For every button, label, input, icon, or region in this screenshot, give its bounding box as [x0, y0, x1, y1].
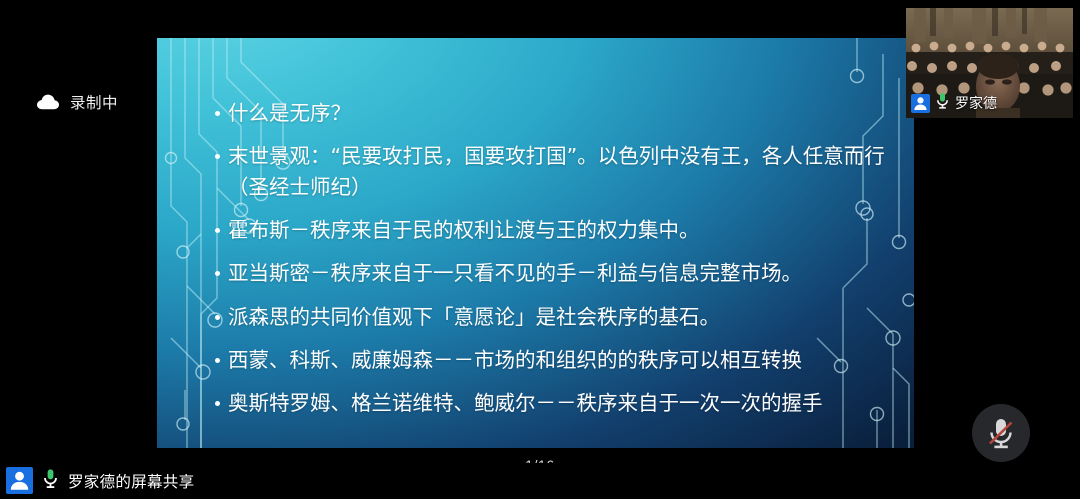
cloud-icon	[36, 93, 60, 111]
slide-bullet: 亚当斯密－秩序来自于一只看不见的手－利益与信息完整市场。	[215, 258, 886, 288]
bullet-marker-icon	[215, 358, 220, 363]
slide-bullet: 奥斯特罗姆、格兰诺维特、鲍威尔－－秩序来自于一次一次的握手	[215, 388, 886, 418]
meeting-screen-share-window: 录制中	[0, 0, 1080, 498]
person-icon	[911, 94, 930, 113]
recording-label: 录制中	[70, 91, 118, 113]
slide-bullet-list: 什么是无序？ 末世景观：“民要攻打民，国要攻打国”。以色列中没有王，各人任意而行…	[215, 98, 886, 432]
screen-share-status-bar: 罗家德的屏幕共享	[0, 463, 1080, 498]
slide-bullet: 西蒙、科斯、威廉姆森－－市场的和组织的的秩序可以相互转换	[215, 345, 886, 375]
bullet-marker-icon	[215, 154, 220, 159]
slide-bullet: 霍布斯－秩序来自于民的权利让渡与王的权力集中。	[215, 215, 886, 245]
slide-bullet-text: 霍布斯－秩序来自于民的权利让渡与王的权力集中。	[228, 215, 886, 245]
bullet-marker-icon	[215, 111, 220, 116]
slide-bullet: 末世景观：“民要攻打民，国要攻打国”。以色列中没有王，各人任意而行（圣经士师纪）	[215, 141, 886, 202]
slide-bullet-text: 末世景观：“民要攻打民，国要攻打国”。以色列中没有王，各人任意而行（圣经士师纪）	[228, 141, 886, 202]
person-icon	[6, 467, 33, 494]
screen-share-label: 罗家德的屏幕共享	[68, 470, 194, 492]
slide-bullet-text: 奥斯特罗姆、格兰诺维特、鲍威尔－－秩序来自于一次一次的握手	[228, 388, 886, 418]
shared-slide[interactable]: 什么是无序？ 末世景观：“民要攻打民，国要攻打国”。以色列中没有王，各人任意而行…	[157, 38, 914, 448]
recording-indicator: 录制中	[36, 91, 118, 113]
participant-video-tile[interactable]: 罗家德	[906, 8, 1073, 118]
bullet-marker-icon	[215, 315, 220, 320]
slide-bullet-text: 西蒙、科斯、威廉姆森－－市场的和组织的的秩序可以相互转换	[228, 345, 886, 375]
bullet-marker-icon	[215, 228, 220, 233]
microphone-muted-icon[interactable]	[972, 404, 1030, 462]
participant-badge: 罗家德	[911, 92, 997, 114]
microphone-icon	[42, 468, 59, 494]
bullet-marker-icon	[215, 271, 220, 276]
microphone-icon	[935, 92, 950, 114]
slide-bullet-text: 派森思的共同价值观下「意愿论」是社会秩序的基石。	[228, 302, 886, 332]
slide-bullet: 什么是无序？	[215, 98, 886, 128]
slide-bullet: 派森思的共同价值观下「意愿论」是社会秩序的基石。	[215, 302, 886, 332]
bullet-marker-icon	[215, 401, 220, 406]
slide-bullet-text: 什么是无序？	[228, 98, 886, 128]
slide-bullet-text: 亚当斯密－秩序来自于一只看不见的手－利益与信息完整市场。	[228, 258, 886, 288]
participant-name: 罗家德	[955, 93, 997, 113]
